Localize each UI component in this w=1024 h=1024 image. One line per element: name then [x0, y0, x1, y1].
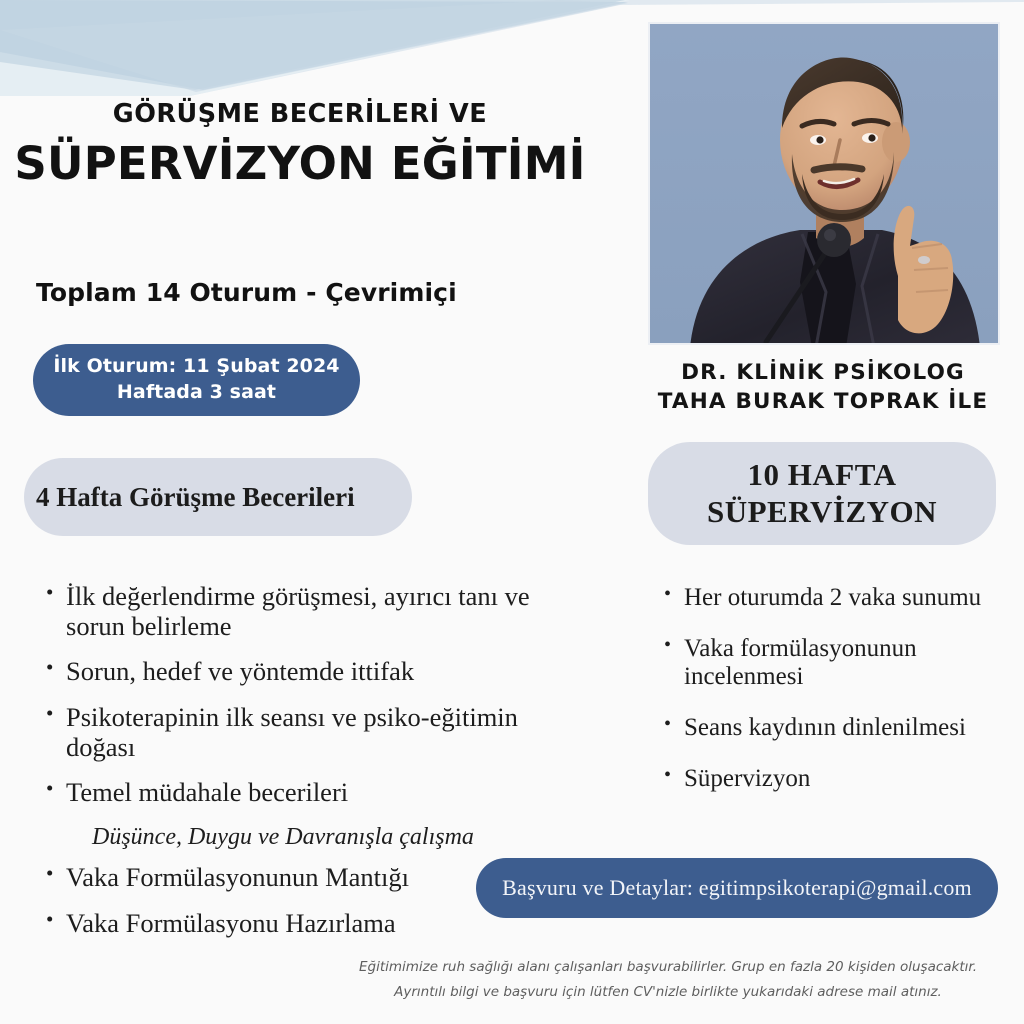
list-item-sub: Düşünce, Duygu ve Davranışla çalışma	[44, 824, 584, 851]
page-title: GÖRÜŞME BECERİLERİ VE SÜPERVİZYON EĞİTİM…	[0, 100, 600, 190]
list-item: Her oturumda 2 vaka sunumu	[662, 584, 1012, 612]
list-item: İlk değerlendirme görüşmesi, ayırıcı tan…	[44, 582, 584, 641]
speaker-name-line: TAHA BURAK TOPRAK İLE	[628, 387, 1018, 416]
speaker-photo	[648, 22, 1000, 345]
course-subtitle: Toplam 14 Oturum - Çevrimiçi	[36, 278, 457, 307]
list-item: Seans kaydının dinlenilmesi	[662, 714, 1012, 742]
right-section-label-1: 10 HAFTA	[748, 457, 897, 494]
title-line-1: GÖRÜŞME BECERİLERİ VE	[0, 100, 600, 128]
speaker-photo-image	[650, 24, 1000, 345]
footer-line-1: Eğitimimize ruh sağlığı alanı çalışanlar…	[359, 959, 977, 975]
start-date-line-1: İlk Oturum: 11 Şubat 2024	[53, 354, 339, 380]
speaker-title-line: DR. KLİNİK PSİKOLOG	[628, 358, 1018, 387]
right-section-pill: 10 HAFTA SÜPERVİZYON	[648, 442, 996, 545]
list-item: Sorun, hedef ve yöntemde ittifak	[44, 657, 584, 687]
poster-canvas: GÖRÜŞME BECERİLERİ VE SÜPERVİZYON EĞİTİM…	[0, 0, 1024, 1024]
speaker-name: DR. KLİNİK PSİKOLOG TAHA BURAK TOPRAK İL…	[628, 358, 1018, 416]
right-topic-list: Her oturumda 2 vaka sunumu Vaka formülas…	[662, 584, 1012, 816]
contact-email-label: Başvuru ve Detaylar: egitimpsikoterapi@g…	[502, 875, 972, 901]
right-section-label-2: SÜPERVİZYON	[707, 494, 937, 531]
footer-line-2: Ayrıntılı bilgi ve başvuru için lütfen C…	[330, 980, 1006, 1005]
list-item: Temel müdahale becerileri	[44, 778, 584, 808]
footer-note: Eğitimimize ruh sağlığı alanı çalışanlar…	[330, 955, 1006, 1005]
list-item: Psikoterapinin ilk seansı ve psiko-eğiti…	[44, 703, 584, 762]
start-date-badge: İlk Oturum: 11 Şubat 2024 Haftada 3 saat	[33, 344, 360, 416]
list-item: Süpervizyon	[662, 765, 1012, 793]
start-date-line-2: Haftada 3 saat	[117, 380, 276, 406]
title-line-2: SÜPERVİZYON EĞİTİMİ	[0, 138, 600, 190]
list-item: Vaka formülasyonunun incelenmesi	[662, 635, 1012, 691]
contact-email-button[interactable]: Başvuru ve Detaylar: egitimpsikoterapi@g…	[476, 858, 998, 918]
left-section-pill: 4 Hafta Görüşme Becerileri	[24, 458, 412, 536]
left-section-label: 4 Hafta Görüşme Becerileri	[36, 482, 355, 513]
